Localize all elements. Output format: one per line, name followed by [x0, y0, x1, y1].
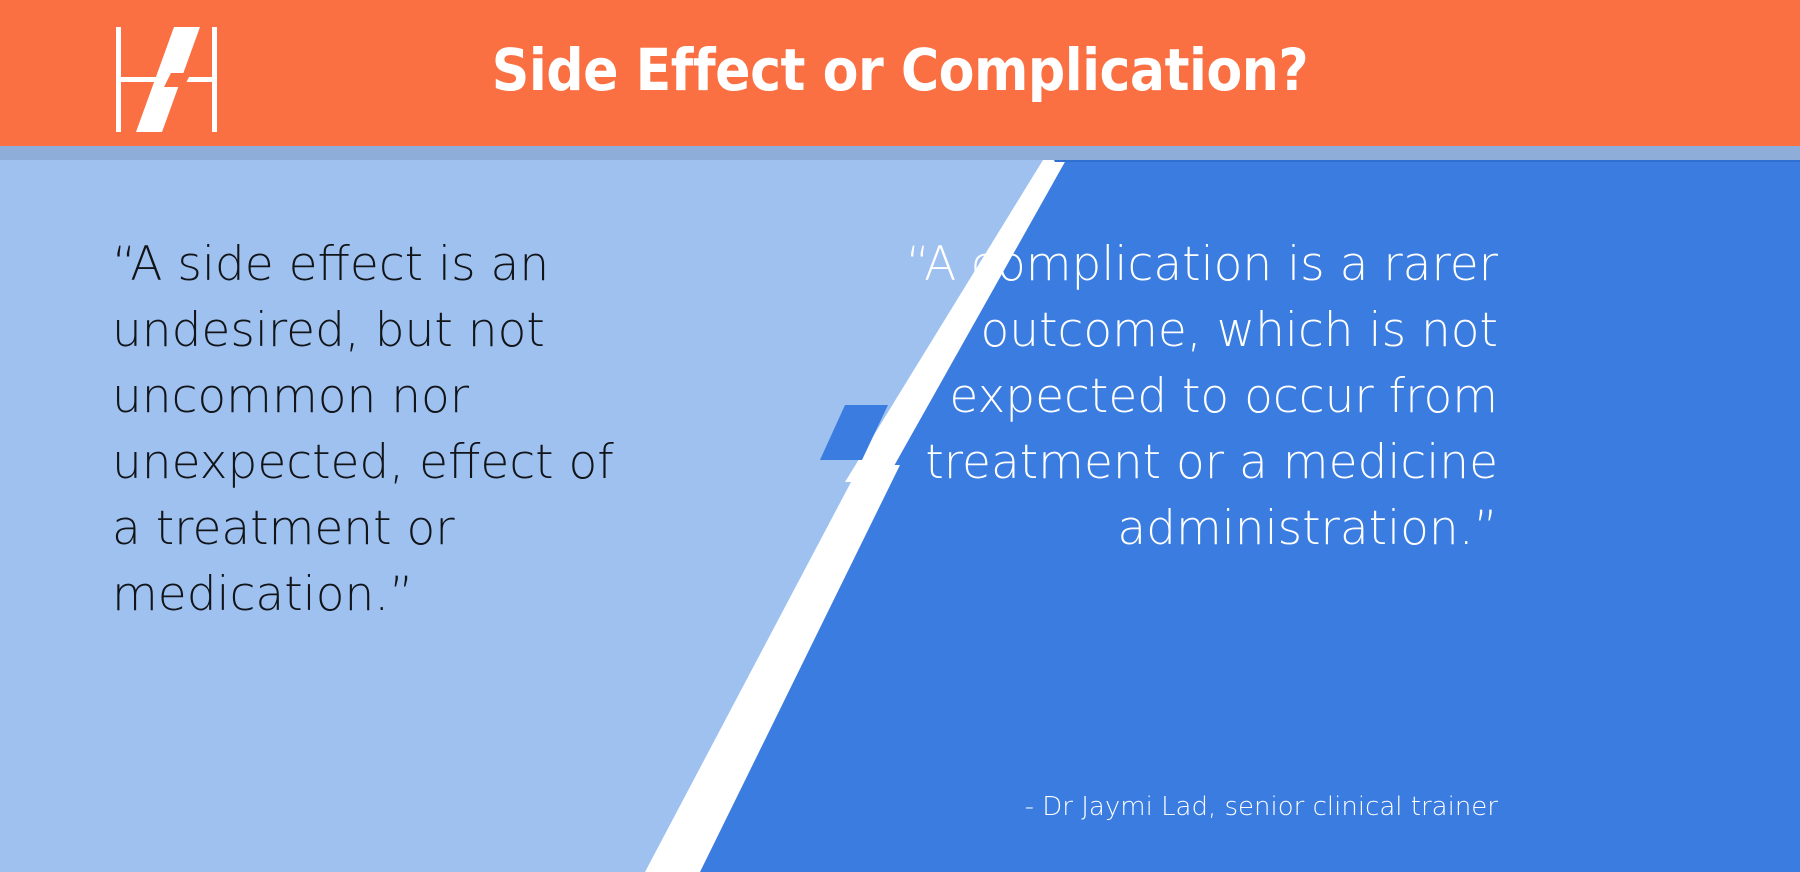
complication-quote: “A complication is a rarer outcome, whic… — [858, 232, 1498, 562]
header-underline-band — [0, 146, 1800, 160]
slide-canvas: Side Effect or Complication? “A side eff… — [0, 0, 1800, 872]
page-title: Side Effect or Complication? — [0, 0, 1800, 146]
quote-attribution: - Dr Jaymi Lad, senior clinical trainer — [1025, 792, 1498, 822]
header-bar: Side Effect or Complication? — [0, 0, 1800, 146]
side-effect-quote: “A side effect is an undesired, but not … — [112, 232, 632, 628]
